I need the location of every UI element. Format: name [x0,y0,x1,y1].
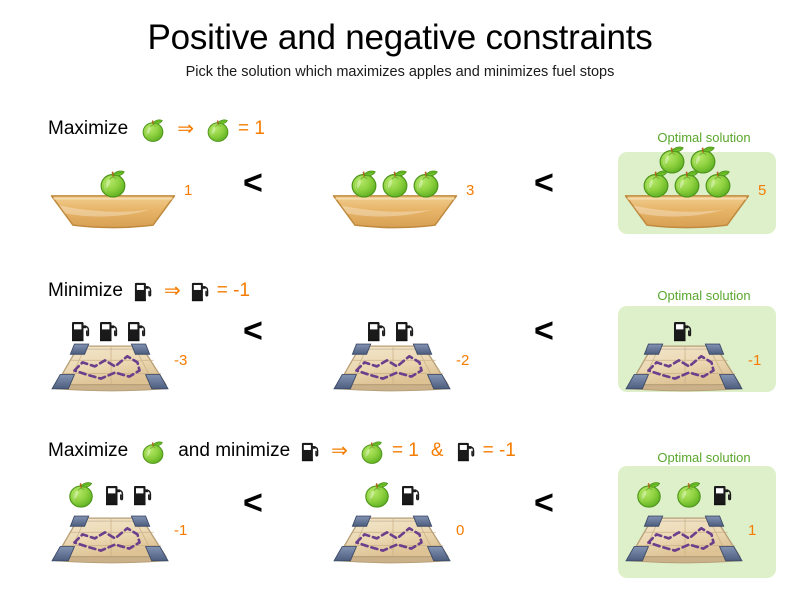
solution-value: 1 [748,522,756,539]
solution-value: -2 [456,352,469,369]
route-map-icon [330,340,452,401]
apple-icon [203,114,233,144]
implies-arrow-icon: ⇒ [177,119,194,139]
solution-value: 1 [184,182,192,199]
solution-map-1-apple-2-pumps[interactable] [48,0,208,1]
route-map-icon [622,512,744,573]
comparator-less-than: < [534,164,554,203]
fuel-pump-icon [394,318,416,343]
row1-formula: Maximize ⇒ [48,112,265,146]
comparator-less-than: < [243,312,263,351]
comparator-less-than: < [534,312,554,351]
fuel-pump-icon [190,279,212,303]
row3-formula: Maximize and minimize ⇒ [48,434,516,468]
apple-icon [95,164,131,200]
route-map-icon [48,512,170,573]
page-subtitle: Pick the solution which maximizes apples… [0,64,800,80]
comparator-less-than: < [243,164,263,203]
apple-icon [360,476,394,510]
apple-icon [138,114,168,144]
route-map-icon [622,340,744,401]
comparator-less-than: < [243,484,263,523]
row2-formula: Minimize ⇒ = -1 [48,274,250,308]
solution-value: -1 [748,352,761,369]
implies-arrow-icon: ⇒ [164,281,181,301]
route-map-icon [48,340,170,401]
row1-weight: = 1 [238,118,265,140]
apple-icon [138,436,168,466]
apple-icon [632,476,666,510]
solution-map-1-apple-1-pump[interactable] [330,0,490,1]
row3-weight-apple: = 1 [392,440,419,462]
fuel-pump-icon [104,482,126,507]
row3-weight-pump: = -1 [483,440,516,462]
fuel-pump-icon [133,279,155,303]
slide-canvas: Positive and negative constraints Pick t… [0,0,800,600]
solution-value: 5 [758,182,766,199]
row2-weight: = -1 [217,280,250,302]
optimal-solution-label: Optimal solution [614,450,794,465]
row3-conjunction: & [431,440,444,462]
row3-verb: Maximize [48,440,128,462]
solution-map-2-apples-1-pump[interactable] [622,0,782,1]
fuel-pump-icon [712,482,734,507]
row2-verb: Minimize [48,280,123,302]
fuel-pump-icon [98,318,120,343]
fuel-pump-icon [672,318,694,343]
row3-verb2: and minimize [178,440,290,462]
route-map-icon [330,512,452,573]
fuel-pump-icon [300,439,322,463]
apple-icon [64,476,98,510]
fuel-pump-icon [126,318,148,343]
fuel-pump-icon [70,318,92,343]
apple-icon [357,436,387,466]
solution-value: -3 [174,352,187,369]
page-title: Positive and negative constraints [0,18,800,58]
row1-verb: Maximize [48,118,128,140]
implies-arrow-icon: ⇒ [331,441,348,461]
apple-icon [672,476,706,510]
optimal-solution-label: Optimal solution [614,288,794,303]
fuel-pump-icon [456,439,478,463]
fuel-pump-icon [366,318,388,343]
apple-icon [700,164,736,200]
solution-value: 0 [456,522,464,539]
apple-icon [408,164,444,200]
solution-value: -1 [174,522,187,539]
fuel-pump-icon [132,482,154,507]
fuel-pump-icon [400,482,422,507]
solution-value: 3 [466,182,474,199]
comparator-less-than: < [534,484,554,523]
